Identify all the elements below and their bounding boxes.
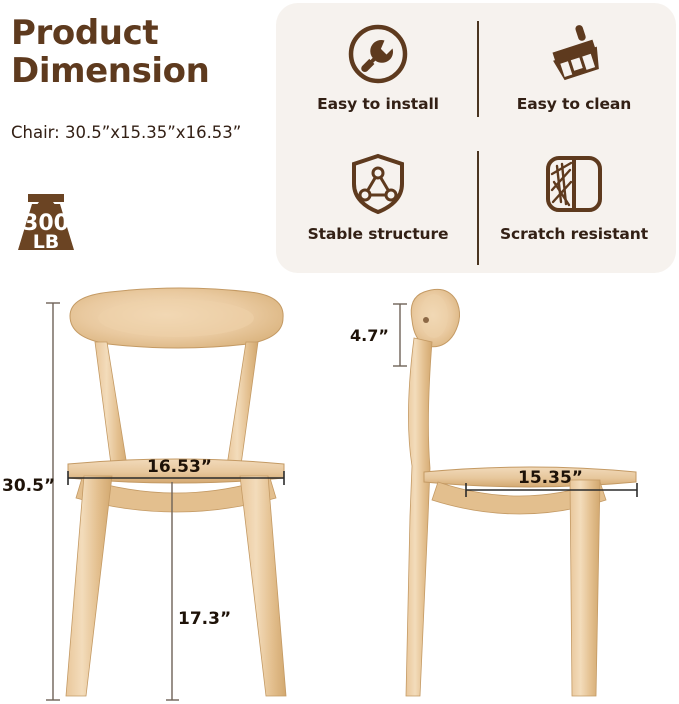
feature-scratch-resistant: Scratch resistant [476, 145, 672, 273]
feature-label: Easy to install [317, 95, 439, 113]
dimension-label-seat-depth: 15.35” [518, 468, 583, 488]
shield-network-icon [347, 145, 409, 223]
feature-label: Stable structure [308, 225, 449, 243]
dimension-label-backrest-height: 4.7” [350, 326, 389, 345]
dimension-backrest-height: 4.7” [350, 304, 407, 366]
dimension-label-seat-height: 17.3” [178, 609, 231, 629]
chair-side-view [406, 289, 636, 696]
page-title: Product Dimension [11, 14, 271, 90]
weight-capacity-badge: 300 LB [8, 180, 84, 254]
broom-icon [538, 15, 610, 93]
page-title-line1: Product [11, 14, 271, 52]
feature-easy-to-install: Easy to install [280, 15, 476, 143]
dimension-seat-height: 17.3” [166, 482, 231, 700]
dimension-label-seat-width: 16.53” [147, 457, 212, 477]
feature-stable-structure: Stable structure [280, 145, 476, 273]
feature-easy-to-clean: Easy to clean [476, 15, 672, 143]
dimension-overall-height: 30.5” [0, 303, 60, 700]
wrench-circle-icon [346, 15, 410, 93]
scratch-panel-icon [540, 145, 608, 223]
page-title-line2: Dimension [11, 52, 271, 90]
weight-unit: LB [33, 231, 60, 253]
feature-label: Easy to clean [517, 95, 631, 113]
product-dimension-subtitle: Chair: 30.5”x15.35”x16.53” [11, 123, 241, 142]
feature-label: Scratch resistant [500, 225, 648, 243]
dimension-label-overall-height: 30.5” [2, 476, 55, 496]
chair-front-view [66, 288, 286, 696]
features-panel: Easy to install Easy to clean [276, 3, 676, 273]
dimension-drawings: 30.5” 16.53” 17.3” [0, 276, 679, 704]
